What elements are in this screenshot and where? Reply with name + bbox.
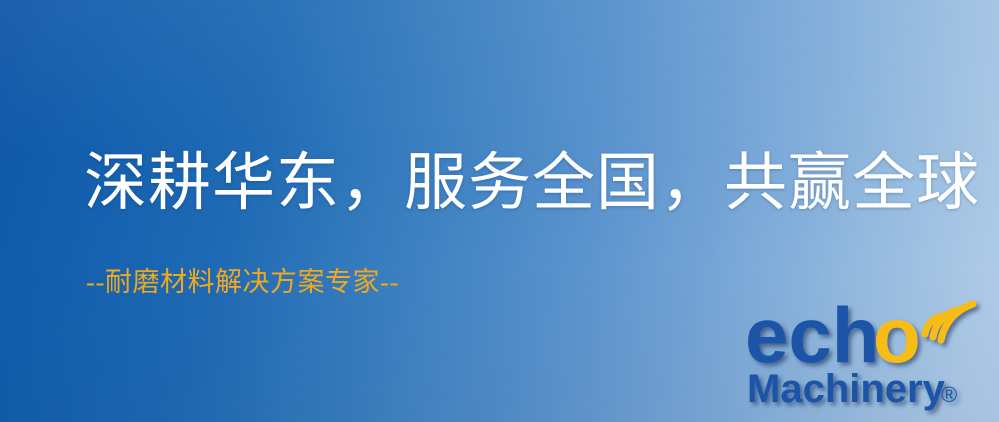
logo-wordmark-o: o bbox=[873, 291, 921, 379]
echo-machinery-logo[interactable]: ech o Machinery ® bbox=[743, 290, 993, 420]
logo-tagline: Machinery bbox=[747, 367, 946, 411]
logo-tagline-group: Machinery ® bbox=[747, 367, 957, 411]
banner-headline: 深耕华东，服务全国，共赢全球 bbox=[84, 150, 980, 216]
logo-wordmark-ech: ech bbox=[745, 291, 879, 379]
signal-wave-icon bbox=[925, 304, 973, 340]
banner-subtitle: --耐磨材料解决方案专家-- bbox=[86, 266, 399, 298]
logo-wordmark-group: ech o bbox=[745, 291, 921, 379]
hero-banner: 深耕华东，服务全国，共赢全球 --耐磨材料解决方案专家-- ech o bbox=[0, 0, 999, 422]
registered-trademark-icon: ® bbox=[941, 382, 957, 407]
